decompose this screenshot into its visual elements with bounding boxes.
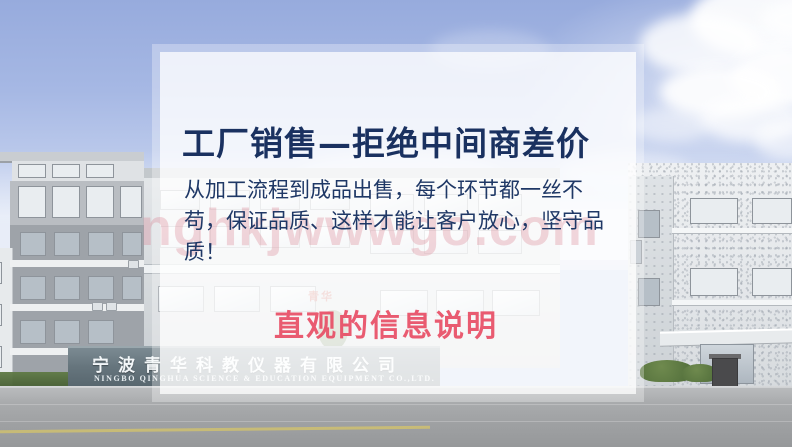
window <box>86 164 114 178</box>
headline-text: 工厂销售—拒绝中间商差价 <box>182 117 622 165</box>
window <box>690 268 738 296</box>
window <box>0 346 2 368</box>
air-conditioner-unit <box>106 302 117 311</box>
window <box>88 232 114 256</box>
floor-band <box>10 304 144 311</box>
floor-band <box>10 260 144 267</box>
window <box>54 276 80 300</box>
window <box>54 232 80 256</box>
window <box>120 186 142 218</box>
window <box>88 320 114 344</box>
floor-ledge <box>672 300 792 306</box>
window <box>752 198 792 224</box>
window <box>20 276 46 300</box>
banner-image: 青华 <box>0 0 792 447</box>
window <box>690 198 738 224</box>
window <box>54 320 80 344</box>
pavement-seam <box>0 421 792 422</box>
window <box>122 232 142 256</box>
window <box>88 276 114 300</box>
window <box>52 186 80 218</box>
window <box>0 304 2 326</box>
window <box>20 320 46 344</box>
window <box>122 276 142 300</box>
pavement-seam <box>0 404 792 405</box>
air-conditioner-unit <box>128 260 139 269</box>
window <box>18 164 46 178</box>
window <box>86 186 114 218</box>
window <box>752 268 792 296</box>
window <box>52 164 80 178</box>
air-conditioner-unit <box>92 302 103 311</box>
floor-ledge <box>672 228 792 234</box>
window <box>0 262 2 284</box>
window <box>18 186 46 218</box>
highlight-text: 直观的信息说明 <box>274 301 498 345</box>
body-text: 从加工流程到成品出售，每个环节都一丝不苟，保证品质、这样才能让客户放心，坚守品质… <box>184 175 620 268</box>
window <box>20 232 46 256</box>
